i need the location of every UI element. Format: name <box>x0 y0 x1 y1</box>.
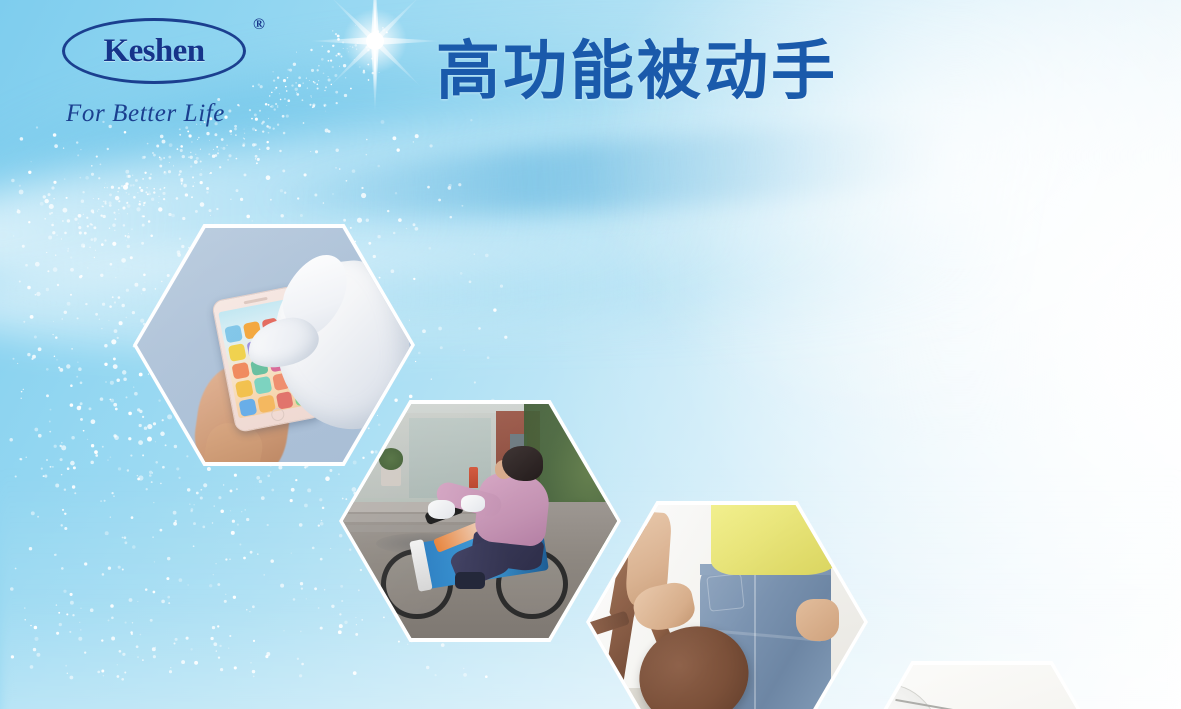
phone-app-icon <box>253 376 271 394</box>
brand-logo[interactable]: Keshen ® For Better Life <box>62 12 292 140</box>
rider-shoe <box>455 572 485 588</box>
traffic-cone <box>469 467 478 488</box>
rider-glove-right <box>461 495 486 511</box>
rider-hair <box>502 446 543 481</box>
phone-app-icon <box>224 325 242 343</box>
brand-tagline: For Better Life <box>66 100 276 128</box>
phone-app-icon <box>242 417 260 419</box>
jeans-seam <box>754 575 756 709</box>
jeans-pocket <box>706 573 744 611</box>
registered-trademark-icon: ® <box>253 16 265 34</box>
page-title: 高功能被动手 <box>436 40 838 104</box>
logo-wordmark: Keshen <box>62 18 246 84</box>
phone-app-icon <box>228 343 246 361</box>
rider-glove-left <box>428 500 455 519</box>
phone-app-icon <box>235 380 253 398</box>
planter-pot <box>381 467 400 486</box>
banner-stage: Keshen ® For Better Life 高功能被动手 <box>0 0 1181 709</box>
phone-app-icon <box>239 398 257 416</box>
gloved-hand-right <box>796 599 840 641</box>
phone-app-icon <box>231 361 249 379</box>
